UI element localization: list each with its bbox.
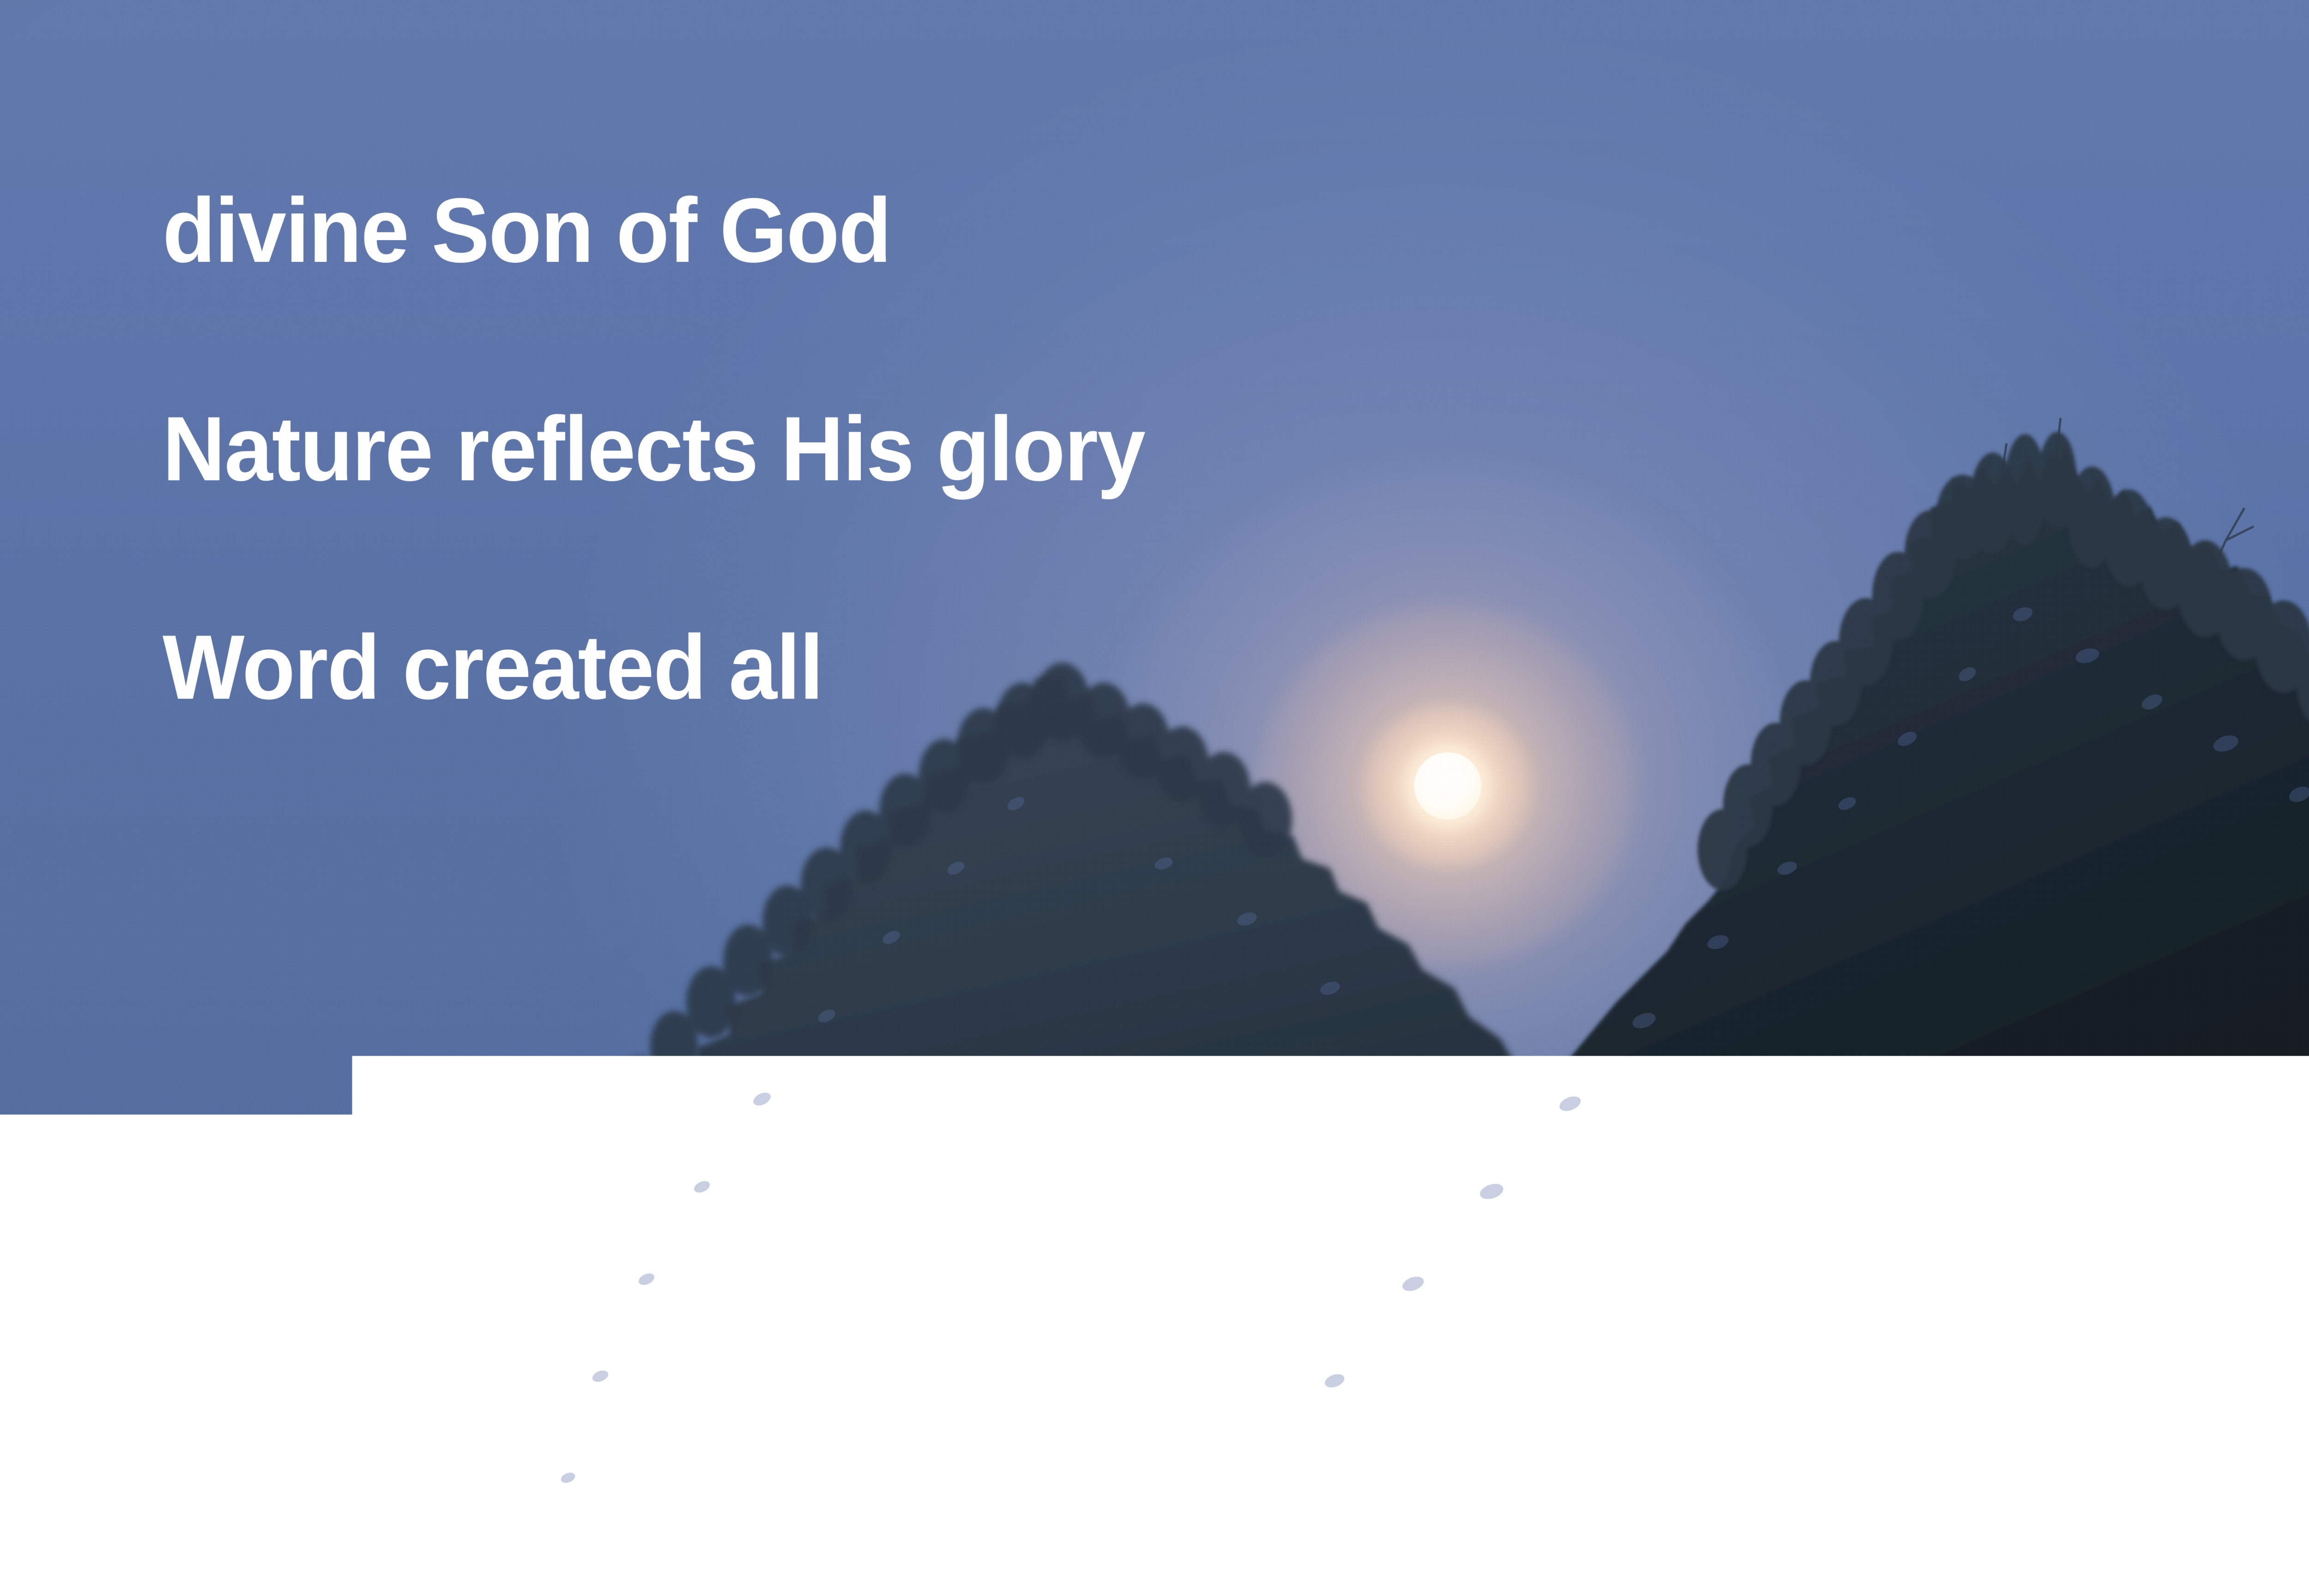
moon-disc <box>1414 752 1481 820</box>
haiku-line-3: Word created all <box>163 622 1479 713</box>
haiku-text-block: divine Son of God Nature reflects His gl… <box>163 185 1548 713</box>
haiku-line-2: Nature reflects His glory <box>163 403 1479 495</box>
photo-canvas: divine Son of God Nature reflects His gl… <box>0 0 2309 1596</box>
haiku-line-1: divine Son of God <box>163 185 1479 276</box>
